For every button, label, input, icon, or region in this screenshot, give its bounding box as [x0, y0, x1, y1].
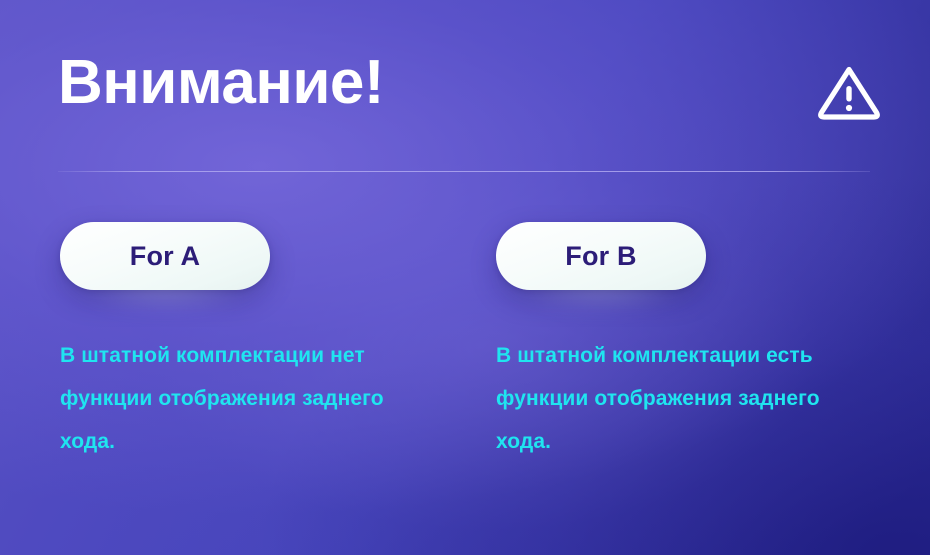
page-title: Внимание! [58, 52, 384, 114]
button-for-a[interactable]: For A [60, 222, 270, 290]
pill-wrap-for-b: For B [496, 222, 706, 290]
pill-wrap-for-a: For A [60, 222, 270, 290]
description-for-a: В штатной комплектации нет функции отобр… [60, 334, 438, 463]
description-for-b: В штатной комплектации есть функции отоб… [496, 334, 874, 463]
column-for-a: For A В штатной комплектации нет функции… [60, 222, 460, 463]
button-for-b-label: For B [565, 243, 637, 270]
button-for-a-label: For A [130, 243, 201, 270]
warning-slide: Внимание! For A В штатной комплектации н… [0, 0, 930, 555]
header-divider [58, 171, 870, 172]
button-for-b[interactable]: For B [496, 222, 706, 290]
warning-triangle-icon [816, 62, 882, 124]
column-for-b: For B В штатной комплектации есть функци… [496, 222, 896, 463]
